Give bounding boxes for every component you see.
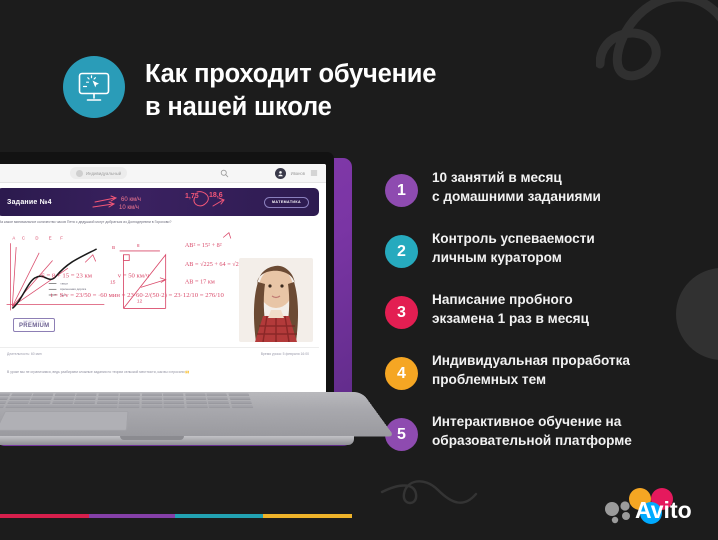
handwriting-overlay: 60 км/ч 10 км/ч 1,75 18,6 — [89, 188, 239, 216]
lesson-datetime: Время урока: 5 февраля 16:00 — [261, 352, 309, 356]
accent-segment-purple — [89, 514, 175, 518]
page-title: Как проходит обучение в нашей школе — [145, 56, 436, 124]
svg-text:F: F — [60, 236, 63, 241]
swirl-decoration-icon — [596, 0, 718, 97]
lesson-content: Задание №4 60 км/ч 10 км/ч — [0, 183, 326, 375]
feature-text: 10 занятий в месяц с домашними заданиями — [432, 165, 601, 207]
premium-badge: МАСТЕР-ГРУППА PREMIUM — [13, 318, 55, 333]
premium-label: PREMIUM — [19, 323, 49, 329]
feature-list: 1 10 занятий в месяц с домашними задания… — [385, 165, 685, 451]
monitor-cursor-icon — [63, 56, 125, 118]
svg-text:t = S/v = 23/50 = ·60 мин = 23: t = S/v = 23/50 = ·60 мин = 23·60·2/(50·… — [51, 292, 225, 299]
avito-logo: Avito — [602, 487, 706, 527]
svg-text:S = 8 + 15 = 23 км: S = 8 + 15 = 23 км — [41, 273, 93, 280]
svg-text:такси: такси — [60, 282, 68, 286]
svg-text:AB = 17 км: AB = 17 км — [185, 279, 215, 286]
laptop-trackpad — [0, 411, 129, 431]
svg-text:B: B — [112, 245, 115, 251]
laptop-base — [0, 392, 362, 462]
slide-header: Как проходит обучение в нашей школе — [63, 56, 436, 124]
hamburger-menu-icon[interactable] — [310, 169, 318, 177]
svg-text:18,6: 18,6 — [209, 192, 223, 199]
svg-text:A: A — [12, 236, 15, 241]
feature-text: Индивидуальная проработка проблемных тем — [432, 348, 630, 390]
svg-text:C: C — [22, 236, 25, 241]
feature-text: Контроль успеваемости личным куратором — [432, 226, 595, 268]
slide-canvas: Как проходит обучение в нашей школе 1 10… — [0, 0, 718, 540]
lesson-worksheet: AC DEF такси временная дорога такт — [0, 226, 319, 344]
laptop-screen: Индивидуальный Иванов — [0, 164, 326, 394]
svg-text:AB = √225 + 64 = √289: AB = √225 + 64 = √289 — [185, 261, 245, 268]
user-avatar-icon[interactable] — [275, 168, 286, 179]
lesson-meta: Длительность: 60 мин Время урока: 5 февр… — [0, 347, 319, 356]
laptop-notch — [120, 436, 184, 440]
lesson-header-card: Задание №4 60 км/ч 10 км/ч — [0, 188, 319, 216]
feature-text: Интерактивное обучение на образовательно… — [432, 409, 632, 451]
svg-text:8: 8 — [137, 243, 140, 249]
lesson-question: За какое минимальное количество часов Пе… — [0, 216, 319, 224]
laptop-screen-bezel: Индивидуальный Иванов — [0, 152, 334, 402]
lesson-title: Задание №4 — [7, 199, 52, 206]
svg-text:AB² = 15² + 8²: AB² = 15² + 8² — [185, 242, 222, 249]
lesson-duration: Длительность: 60 мин — [7, 352, 42, 356]
svg-text:1,75: 1,75 — [185, 193, 199, 200]
svg-text:60 км/ч: 60 км/ч — [121, 197, 141, 203]
svg-text:D: D — [35, 236, 38, 241]
site-logo-icon — [76, 170, 83, 177]
svg-text:15: 15 — [110, 280, 116, 286]
url-text: Индивидуальный — [86, 171, 121, 176]
svg-text:12: 12 — [137, 299, 143, 305]
accent-segment-yellow — [263, 514, 352, 518]
avito-wordmark: Avito — [635, 497, 692, 523]
list-item: 5 Интерактивное обучение на образователь… — [385, 409, 685, 451]
laptop-keyboard — [0, 393, 253, 407]
subject-badge: МАТЕМАТИКА — [264, 197, 309, 208]
user-name: Иванов — [291, 171, 305, 176]
feature-number-badge: 4 — [385, 357, 418, 390]
list-item: 1 10 занятий в месяц с домашними задания… — [385, 165, 685, 207]
color-accent-bar — [0, 514, 352, 518]
swirl-decoration-icon — [380, 472, 490, 530]
browser-toolbar: Индивидуальный Иванов — [0, 164, 326, 183]
lesson-note: В уроке мы не ограничимся, ведь разбирае… — [0, 356, 319, 375]
list-item: 3 Написание пробного экзамена 1 раз в ме… — [385, 287, 685, 329]
feature-number-badge: 1 — [385, 174, 418, 207]
svg-text:E: E — [49, 236, 52, 241]
feature-number-badge: 2 — [385, 235, 418, 268]
search-icon[interactable] — [220, 169, 229, 178]
accent-segment-red — [0, 514, 89, 518]
svg-text:временная дорога: временная дорога — [60, 287, 86, 291]
laptop-deck — [0, 392, 394, 437]
svg-text:10 км/ч: 10 км/ч — [119, 205, 139, 211]
svg-text:v = 50 км/ч: v = 50 км/ч — [118, 273, 150, 280]
list-item: 2 Контроль успеваемости личным куратором — [385, 226, 685, 268]
feature-number-badge: 3 — [385, 296, 418, 329]
teacher-video-thumbnail[interactable] — [239, 258, 313, 342]
laptop-mockup: Индивидуальный Иванов — [0, 152, 368, 452]
list-item: 4 Индивидуальная проработка проблемных т… — [385, 348, 685, 390]
accent-segment-teal — [175, 514, 264, 518]
url-bar[interactable]: Индивидуальный — [70, 167, 127, 179]
feature-text: Написание пробного экзамена 1 раз в меся… — [432, 287, 589, 329]
browser-user-area: Иванов — [275, 168, 318, 179]
